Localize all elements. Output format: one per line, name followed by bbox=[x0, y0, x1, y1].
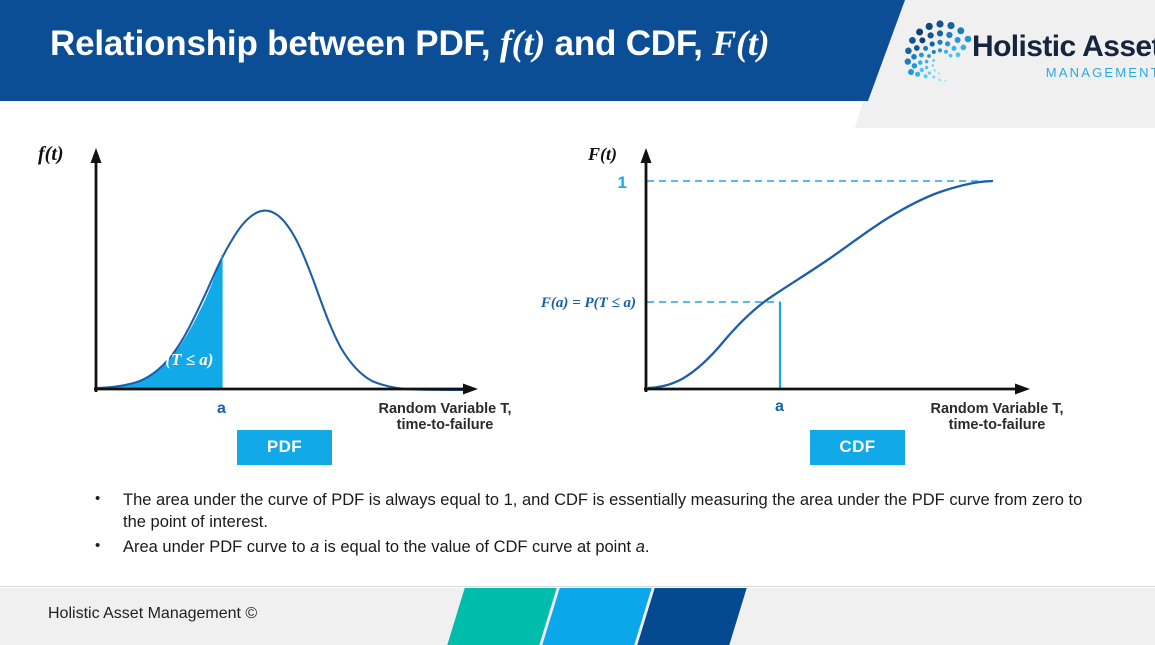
logo-wordmark: Holistic Asset MANAGEMENT bbox=[972, 32, 1155, 80]
pdf-marker-label-a: a bbox=[217, 400, 226, 417]
pdf-cdf-figure: f(t) P(T ≤ a) a Random Variable T, time-… bbox=[0, 130, 1155, 480]
bullet-marker: • bbox=[95, 536, 123, 556]
cdf-y-axis-label: F(t) bbox=[587, 144, 617, 165]
cdf-x-axis-label-line1: Random Variable T, bbox=[931, 401, 1064, 417]
badge-cdf: CDF bbox=[810, 430, 905, 465]
cdf-x-axis-arrow bbox=[1015, 384, 1030, 395]
footer-shape-teal bbox=[447, 588, 556, 645]
cdf-value-label: F(a) = P(T ≤ a) bbox=[540, 295, 636, 311]
footer-copyright: Holistic Asset Management © bbox=[48, 605, 257, 623]
cdf-x-axis-label-line2: time-to-failure bbox=[949, 417, 1046, 433]
pdf-x-axis-label-line1: Random Variable T, bbox=[379, 401, 512, 417]
page-title-middle: and CDF, bbox=[545, 24, 712, 63]
cdf-y-axis-arrow bbox=[641, 148, 652, 163]
page-title-prefix: Relationship between PDF, bbox=[50, 24, 500, 63]
brand-logo: Holistic Asset MANAGEMENT bbox=[900, 18, 1150, 100]
pdf-y-axis-label: f(t) bbox=[38, 143, 64, 165]
figure-area: f(t) P(T ≤ a) a Random Variable T, time-… bbox=[0, 130, 1155, 480]
list-item: • Area under PDF curve to a is equal to … bbox=[95, 536, 1085, 558]
pdf-curve bbox=[97, 211, 466, 390]
badge-pdf: PDF bbox=[237, 430, 332, 465]
bullet-text-em-a2: a bbox=[636, 538, 645, 556]
cdf-y-max-label: 1 bbox=[618, 173, 627, 192]
pdf-chart bbox=[91, 148, 479, 395]
pdf-x-axis-label-line2: time-to-failure bbox=[397, 417, 494, 433]
slide-root: Relationship between PDF, f(t) and CDF, … bbox=[0, 0, 1155, 645]
pdf-area-label: P(T ≤ a) bbox=[154, 350, 213, 369]
dot-spiral-icon bbox=[900, 18, 980, 98]
bullet-text-pre: Area under PDF curve to bbox=[123, 538, 310, 556]
bullet-text: The area under the curve of PDF is alway… bbox=[123, 489, 1085, 534]
bullet-marker: • bbox=[95, 489, 123, 509]
page-title: Relationship between PDF, f(t) and CDF, … bbox=[50, 22, 769, 64]
logo-name: Holistic Asset bbox=[972, 32, 1155, 62]
footer-accent-shapes bbox=[450, 588, 730, 645]
footer-shape-navy bbox=[637, 588, 746, 645]
slide-footer: Holistic Asset Management © bbox=[0, 588, 1155, 645]
bullet-text-post: . bbox=[645, 538, 650, 556]
footer-shape-cyan bbox=[542, 588, 651, 645]
cdf-curve bbox=[648, 181, 993, 388]
logo-subtitle: MANAGEMENT bbox=[972, 65, 1155, 80]
page-title-math-Ft: F(t) bbox=[712, 23, 769, 63]
pdf-x-axis-arrow bbox=[463, 384, 478, 395]
slide-header: Relationship between PDF, f(t) and CDF, … bbox=[0, 0, 1155, 132]
bullet-list: • The area under the curve of PDF is alw… bbox=[95, 489, 1085, 560]
bullet-text-mid: is equal to the value of CDF curve at po… bbox=[319, 538, 635, 556]
cdf-chart bbox=[641, 148, 1031, 395]
cdf-marker-label-a: a bbox=[775, 398, 784, 415]
pdf-y-axis-arrow bbox=[91, 148, 102, 163]
footer-divider bbox=[0, 586, 1155, 587]
bullet-text: Area under PDF curve to a is equal to th… bbox=[123, 536, 1085, 558]
page-title-math-ft: f(t) bbox=[500, 23, 545, 63]
list-item: • The area under the curve of PDF is alw… bbox=[95, 489, 1085, 534]
bullet-text-em-a1: a bbox=[310, 538, 319, 556]
